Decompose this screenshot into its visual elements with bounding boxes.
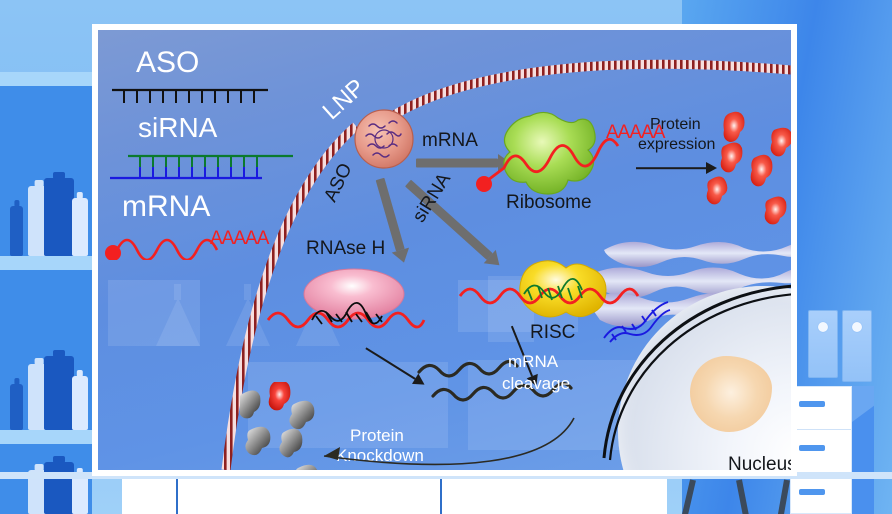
cabinet-door-right: [842, 310, 872, 382]
cabinet-door-left: [808, 310, 838, 378]
shelf-band-mid: [0, 256, 92, 270]
reagent-bottle: [72, 474, 88, 514]
mrna-cleavage-label-line2: cleavage: [502, 374, 570, 394]
mrna-cleavage-label-line1: mRNA: [508, 352, 558, 372]
cabinet-knob-right: [852, 322, 862, 332]
aso-mrna-heteroduplex: [264, 298, 444, 338]
counter-divider: [176, 478, 178, 514]
cell-interior: Nucleus: [98, 30, 791, 470]
risc-label: RISC: [530, 322, 575, 344]
cell-diagram-panel: Nucleus: [92, 24, 797, 476]
protein-expression-label-line1: Protein: [650, 116, 701, 134]
legend-sirna-label: siRNA: [138, 112, 217, 144]
mrna-polya-tail-label: AAAAA: [210, 228, 268, 250]
cleavage-to-knockdown-arrow: [288, 412, 578, 470]
reagent-bottle: [10, 384, 23, 430]
shelf-band-top: [0, 72, 92, 86]
rnase-h-label: RNAse H: [306, 238, 385, 260]
reagent-bottle: [72, 376, 88, 430]
drawer-handle: [799, 401, 825, 407]
lnp-particle: [353, 108, 415, 170]
risc-released-sirna: [600, 298, 672, 344]
cabinet-knob-left: [818, 322, 828, 332]
reagent-bottle: [44, 178, 74, 256]
shelf-band-low: [0, 430, 92, 444]
legend-mrna-label: mRNA: [122, 190, 210, 225]
mrna-pathway-label: mRNA: [422, 130, 478, 152]
lab-counter: [122, 478, 667, 514]
reagent-bottle: [44, 356, 74, 430]
figure-root: Nucleus: [0, 0, 892, 514]
legend-aso-label: ASO: [136, 46, 199, 81]
reagent-bottle: [10, 206, 23, 256]
drawer-cabinet: [790, 386, 852, 514]
reagent-bottle: [72, 198, 88, 256]
aso-oligo-icon: [110, 86, 270, 106]
drawer-handle: [799, 445, 825, 451]
reagent-bottle: [44, 462, 74, 514]
drawer-handle: [799, 489, 825, 495]
protein-expression-label-line2: expression: [638, 136, 715, 154]
counter-divider: [440, 478, 442, 514]
expressed-proteins: [706, 108, 791, 228]
sirna-duplex-icon: [110, 152, 295, 184]
ribosome-label: Ribosome: [506, 192, 592, 214]
